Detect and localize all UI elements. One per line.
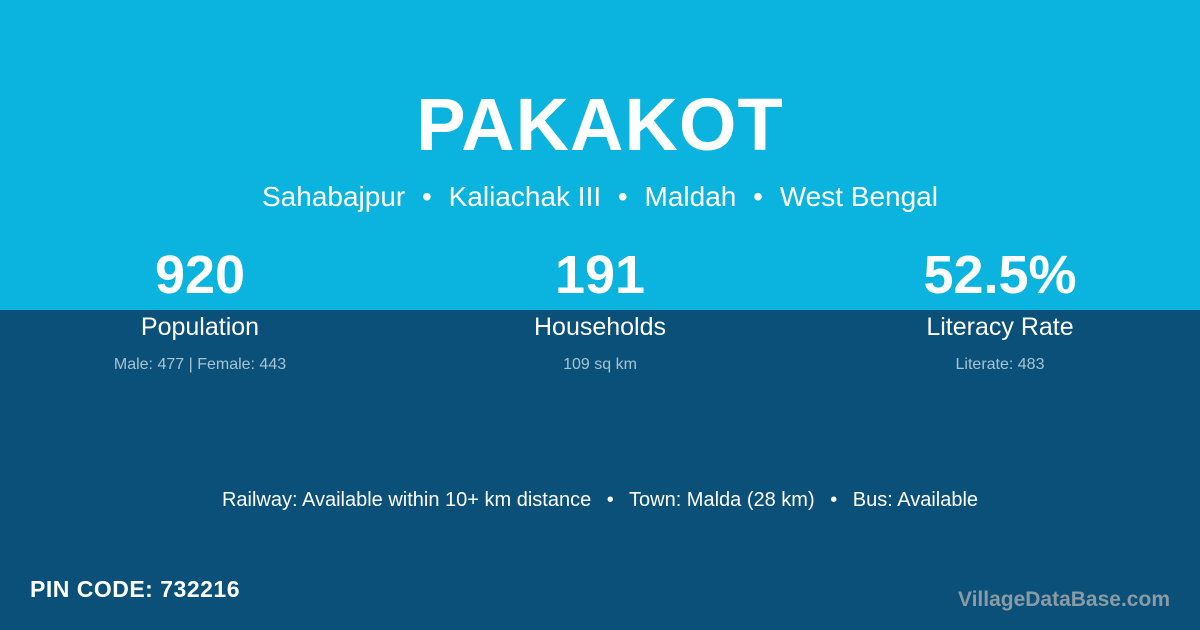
stat-sublabel: Male: 477 | Female: 443 xyxy=(0,342,400,376)
stat-value: 920 xyxy=(0,243,400,307)
village-info-card: PAKAKOT Sahabajpur • Kaliachak III • Mal… xyxy=(0,0,1200,630)
stat-label: Households xyxy=(400,307,800,342)
breadcrumb-part-state: West Bengal xyxy=(780,181,938,212)
stat-label: Literacy Rate xyxy=(800,307,1200,342)
transport-separator: • xyxy=(597,489,624,511)
card-header: PAKAKOT Sahabajpur • Kaliachak III • Mal… xyxy=(0,0,1200,214)
transport-bus: Bus: Available xyxy=(853,489,978,511)
breadcrumb-separator: • xyxy=(609,181,637,212)
stat-households: 191 Households 109 sq km xyxy=(400,243,800,376)
stat-sublabel: Literate: 483 xyxy=(800,342,1200,376)
stat-value: 52.5% xyxy=(800,243,1200,307)
pin-code: PIN CODE: 732216 xyxy=(30,574,240,604)
breadcrumb: Sahabajpur • Kaliachak III • Maldah • We… xyxy=(0,168,1200,214)
transport-separator: • xyxy=(820,489,847,511)
stat-literacy-rate: 52.5% Literacy Rate Literate: 483 xyxy=(800,243,1200,376)
transport-info: Railway: Available within 10+ km distanc… xyxy=(0,486,1200,514)
page-title: PAKAKOT xyxy=(0,0,1200,168)
stats-row: 920 Population Male: 477 | Female: 443 1… xyxy=(0,243,1200,376)
breadcrumb-part-district: Maldah xyxy=(645,181,737,212)
breadcrumb-separator: • xyxy=(744,181,772,212)
transport-railway: Railway: Available within 10+ km distanc… xyxy=(222,489,591,511)
transport-town: Town: Malda (28 km) xyxy=(629,489,815,511)
site-brand: VillageDataBase.com xyxy=(958,587,1170,613)
breadcrumb-part-block: Kaliachak III xyxy=(449,181,602,212)
breadcrumb-separator: • xyxy=(413,181,441,212)
stat-label: Population xyxy=(0,307,400,342)
stat-value: 191 xyxy=(400,243,800,307)
stat-population: 920 Population Male: 477 | Female: 443 xyxy=(0,243,400,376)
card-footer: PIN CODE: 732216 VillageDataBase.com xyxy=(0,560,1200,630)
breadcrumb-part-village: Sahabajpur xyxy=(262,181,405,212)
stat-sublabel: 109 sq km xyxy=(400,342,800,376)
